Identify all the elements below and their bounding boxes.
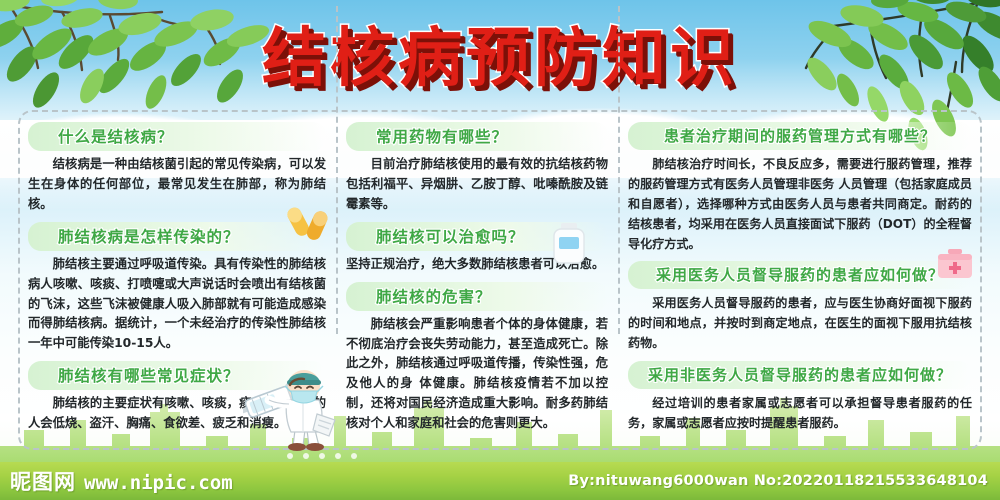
column-right: 患者治疗期间的服药管理方式有哪些？ 肺结核治疗时间长，不良反应多，需要进行服药管… [618,110,982,450]
section-body-curable: 坚持正规治疗，绝大多数肺结核患者可以治愈。 [346,255,608,275]
poster-canvas: 结核病预防知识 什么是结核病？ 结核病是一种由结核菌引起的常见传染病，可以发生在… [0,0,1000,500]
column-middle: 常用药物有哪些？ 目前治疗肺结核使用的最有效的抗结核药物包括利福平、异烟肼、乙胺… [336,110,618,450]
column-left: 什么是结核病？ 结核病是一种由结核菌引起的常见传染病，可以发生在身体的任何部位，… [18,110,336,450]
section-heading-nonstaff-supervised: 采用非医务人员督导服药的患者应如何做？ [628,361,972,389]
section-heading-what-is-tb: 什么是结核病？ [28,122,326,151]
section-body-common-drugs: 目前治疗肺结核使用的最有效的抗结核药物包括利福平、异烟肼、乙胺丁醇、吡嗪酰胺及链… [346,155,608,215]
page-title: 结核病预防知识 [262,26,738,93]
content-columns: 什么是结核病？ 结核病是一种由结核菌引起的常见传染病，可以发生在身体的任何部位，… [18,110,982,450]
section-heading-harm: 肺结核的危害？ [346,282,608,311]
section-body-symptoms: 肺结核的主要症状有咳嗽、咳痰，痰中带血，有的人会低烧、盗汗、胸痛、食欲差、疲乏和… [28,394,326,434]
site-logo: 昵图网 [10,466,76,496]
section-body-staff-supervised: 采用医务人员督导服药的患者，应与医生协商好面视下服药的时间和地点，并按时到商定地… [628,293,972,353]
footer-bar: 昵图网 www.nipic.com By:nituwang6000wan No:… [0,462,1000,500]
section-heading-medication-management: 患者治疗期间的服药管理方式有哪些？ [628,122,972,150]
section-body-medication-management: 肺结核治疗时间长，不良反应多，需要进行服药管理，推荐的服药管理方式有医务人员管理… [628,154,972,254]
section-heading-symptoms: 肺结核有哪些常见症状？ [28,361,326,390]
section-heading-staff-supervised: 采用医务人员督导服药的患者应如何做？ [628,261,972,289]
section-heading-how-transmitted: 肺结核病是怎样传染的？ [28,222,326,251]
footer-left: 昵图网 www.nipic.com [0,466,233,496]
section-heading-curable: 肺结核可以治愈吗？ [346,222,608,251]
section-body-harm: 肺结核会严重影响患者个体的身体健康，若不彻底治疗会丧失劳动能力，甚至造成死亡。除… [346,315,608,434]
section-body-how-transmitted: 肺结核主要通过呼吸道传染。具有传染性的肺结核病人咳嗽、咳痰、打喷嚏或大声说话时会… [28,255,326,355]
footer-credit: By:nituwang6000wan No:202201182155336481… [568,473,1000,489]
section-body-nonstaff-supervised: 经过培训的患者家属或志愿者可以承担督导患者服药的任务，家属或志愿者应按时提醒患者… [628,393,972,433]
section-heading-common-drugs: 常用药物有哪些？ [346,122,608,151]
poster-title-wrap: 结核病预防知识 [0,26,1000,93]
section-body-what-is-tb: 结核病是一种由结核菌引起的常见传染病，可以发生在身体的任何部位，最常见发生在肺部… [28,155,326,215]
site-url: www.nipic.com [84,472,233,494]
